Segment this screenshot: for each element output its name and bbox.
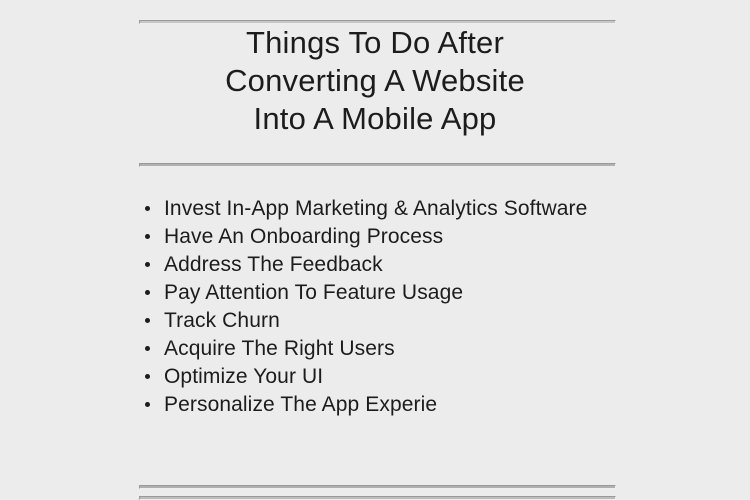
poster-canvas: Things To Do After Converting A Website … (0, 0, 750, 500)
list-item-label: Acquire The Right Users (164, 335, 610, 363)
list-item: Optimize Your UI (140, 363, 610, 391)
bullet-dot-icon (145, 234, 150, 239)
page-title: Things To Do After Converting A Website … (105, 24, 645, 138)
divider-bottom-second (139, 496, 616, 500)
bullet-dot-icon (145, 374, 150, 379)
divider-bottom-first (139, 485, 616, 489)
list-item-label: Have An Onboarding Process (164, 223, 610, 251)
bullet-dot-icon (145, 402, 150, 407)
bullet-list: Invest In-App Marketing & Analytics Soft… (140, 195, 610, 419)
bullet-list-container: Invest In-App Marketing & Analytics Soft… (140, 195, 610, 419)
bullet-dot-icon (145, 290, 150, 295)
bullet-dot-icon (145, 318, 150, 323)
bullet-dot-icon (145, 346, 150, 351)
list-item: Personalize The App Experie (140, 391, 610, 419)
list-item: Address The Feedback (140, 251, 610, 279)
list-item-label: Personalize The App Experie (164, 391, 610, 419)
list-item-label: Pay Attention To Feature Usage (164, 279, 610, 307)
list-item: Track Churn (140, 307, 610, 335)
list-item-label: Optimize Your UI (164, 363, 610, 391)
list-item-label: Address The Feedback (164, 251, 610, 279)
title-line-1: Things To Do After (105, 24, 645, 62)
title-line-2: Converting A Website (105, 62, 645, 100)
bullet-dot-icon (145, 206, 150, 211)
list-item: Pay Attention To Feature Usage (140, 279, 610, 307)
bullet-dot-icon (145, 262, 150, 267)
title-line-3: Into A Mobile App (105, 100, 645, 138)
divider-under-title (139, 163, 616, 167)
list-item: Invest In-App Marketing & Analytics Soft… (140, 195, 610, 223)
list-item: Have An Onboarding Process (140, 223, 610, 251)
list-item: Acquire The Right Users (140, 335, 610, 363)
list-item-label: Invest In-App Marketing & Analytics Soft… (164, 195, 610, 223)
list-item-label: Track Churn (164, 307, 610, 335)
